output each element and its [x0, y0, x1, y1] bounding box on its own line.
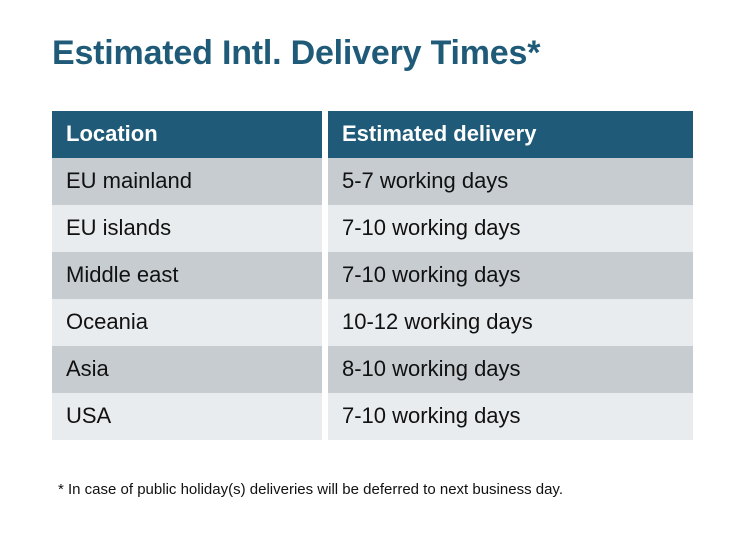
cell-delivery: 7-10 working days	[328, 252, 693, 299]
cell-delivery: 7-10 working days	[328, 205, 693, 252]
cell-delivery: 5-7 working days	[328, 158, 693, 205]
cell-location: USA	[52, 393, 322, 440]
delivery-table-container: Location Estimated delivery EU mainland …	[52, 111, 693, 440]
footnote-text: * In case of public holiday(s) deliverie…	[58, 481, 563, 498]
table-row: EU islands 7-10 working days	[52, 205, 693, 252]
table-row: Asia 8-10 working days	[52, 346, 693, 393]
page-title: Estimated Intl. Delivery Times*	[52, 34, 540, 73]
cell-delivery: 7-10 working days	[328, 393, 693, 440]
table-row: Oceania 10-12 working days	[52, 299, 693, 346]
table-header-row: Location Estimated delivery	[52, 111, 693, 158]
cell-location: Asia	[52, 346, 322, 393]
cell-delivery: 8-10 working days	[328, 346, 693, 393]
table-row: EU mainland 5-7 working days	[52, 158, 693, 205]
cell-location: EU islands	[52, 205, 322, 252]
cell-location: Oceania	[52, 299, 322, 346]
column-header-location: Location	[52, 111, 322, 158]
delivery-times-table: Location Estimated delivery EU mainland …	[52, 111, 693, 440]
cell-delivery: 10-12 working days	[328, 299, 693, 346]
delivery-times-page: Estimated Intl. Delivery Times* Location…	[0, 0, 745, 536]
table-row: Middle east 7-10 working days	[52, 252, 693, 299]
table-body: EU mainland 5-7 working days EU islands …	[52, 158, 693, 440]
table-row: USA 7-10 working days	[52, 393, 693, 440]
table-header: Location Estimated delivery	[52, 111, 693, 158]
column-header-delivery: Estimated delivery	[328, 111, 693, 158]
cell-location: EU mainland	[52, 158, 322, 205]
cell-location: Middle east	[52, 252, 322, 299]
